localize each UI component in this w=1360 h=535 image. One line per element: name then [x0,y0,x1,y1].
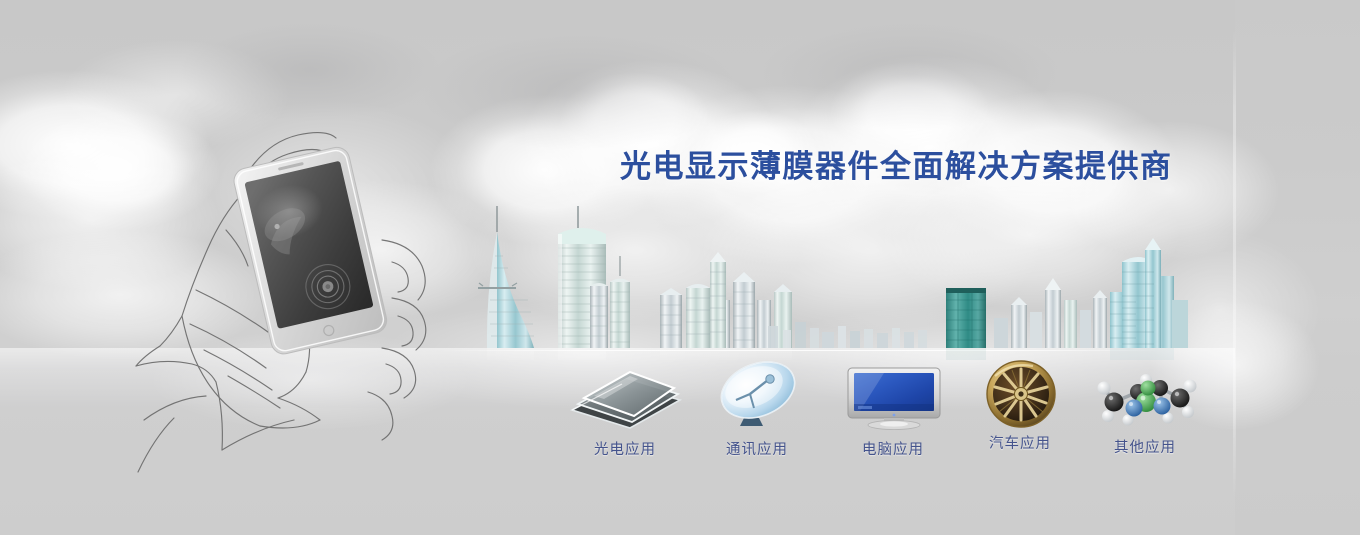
application-item-optoelectronic[interactable]: 光电应用 [560,360,690,459]
molecule-model-icon [1080,358,1210,430]
composite-seam [1233,30,1236,500]
application-item-communication[interactable]: 通讯应用 [692,360,822,459]
application-label-computer: 电脑应用 [828,438,958,459]
application-icon-row: 光电应用 [0,0,1235,470]
application-item-automotive[interactable]: 汽车应用 [955,354,1085,453]
application-label-communication: 通讯应用 [692,438,822,459]
application-item-other[interactable]: 其他应用 [1080,358,1210,457]
application-item-computer[interactable]: 电脑应用 [828,360,958,459]
banner-stage: 光电显示薄膜器件全面解决方案提供商 [0,0,1360,535]
satellite-dish-icon [692,360,822,432]
computer-monitor-icon [828,360,958,432]
application-label-other: 其他应用 [1080,436,1210,457]
application-label-automotive: 汽车应用 [955,432,1085,453]
alloy-wheel-icon [955,354,1085,426]
application-label-optoelectronic: 光电应用 [560,438,690,459]
glass-film-panels-icon [560,360,690,432]
